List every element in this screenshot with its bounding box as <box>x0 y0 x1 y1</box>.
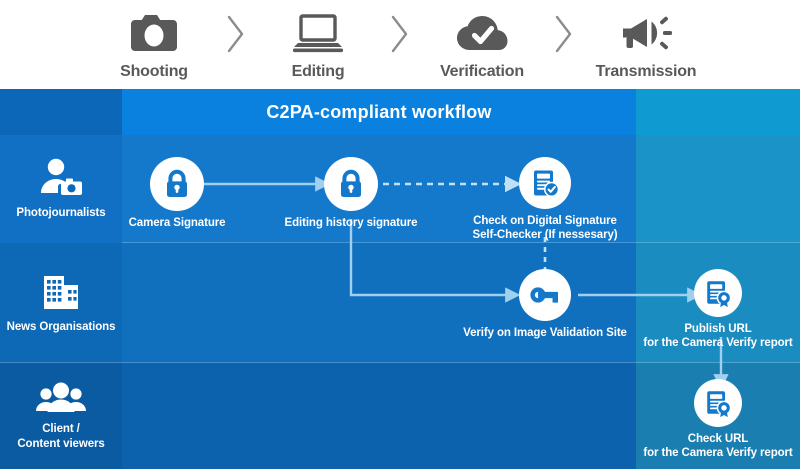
node-verify-image-validation-site[interactable]: Verify on Image Validation Site <box>455 269 635 340</box>
chevron-right-icon <box>541 14 587 54</box>
chevron-right-icon <box>213 14 259 54</box>
stage-label: Verification <box>440 63 524 81</box>
megaphone-icon <box>617 9 675 57</box>
node-editing-history-signature[interactable]: Editing history signature <box>260 157 442 230</box>
stage-label: Shooting <box>120 63 188 81</box>
document-check-icon <box>519 157 571 209</box>
stage-shooting: Shooting <box>95 9 213 81</box>
self-checker-line1: Check on Digital Signature <box>473 215 617 227</box>
node-camera-signature[interactable]: Camera Signature <box>136 157 218 230</box>
node-label: Publish URL for the Camera Verify report <box>643 322 792 350</box>
node-self-checker[interactable]: Check on Digital Signature Self-Checker … <box>455 157 635 242</box>
padlock-icon <box>150 157 204 211</box>
workflow-panel: C2PA-compliant workflow Photojournalists <box>0 89 800 469</box>
node-label: Editing history signature <box>285 216 418 230</box>
node-label: Check URL for the Camera Verify report <box>643 432 792 460</box>
publish-url-line2: for the Camera Verify report <box>643 337 792 349</box>
node-publish-url[interactable]: Publish URL for the Camera Verify report <box>638 269 798 350</box>
stage-editing: Editing <box>259 9 377 81</box>
chevron-right-icon <box>377 14 423 54</box>
node-label: Check on Digital Signature Self-Checker … <box>473 214 618 242</box>
stage-label: Editing <box>292 63 345 81</box>
stage-bar: Shooting Editing <box>0 0 800 89</box>
laptop-icon <box>290 9 346 57</box>
node-label: Camera Signature <box>129 216 226 230</box>
padlock-icon <box>324 157 378 211</box>
stage-verification: Verification <box>423 9 541 81</box>
infographic-root: Shooting Editing <box>0 0 800 469</box>
check-url-line2: for the Camera Verify report <box>643 447 792 459</box>
key-icon <box>519 269 571 321</box>
cloud-check-icon <box>453 9 511 57</box>
certificate-icon <box>694 379 742 427</box>
node-check-url[interactable]: Check URL for the Camera Verify report <box>638 379 798 460</box>
node-label: Verify on Image Validation Site <box>463 326 627 340</box>
certificate-icon <box>694 269 742 317</box>
self-checker-line2: Self-Checker (If nessesary) <box>473 229 618 241</box>
camera-icon <box>126 9 182 57</box>
stage-label: Transmission <box>596 63 697 81</box>
check-url-line1: Check URL <box>688 433 748 445</box>
stage-transmission: Transmission <box>587 9 705 81</box>
publish-url-line1: Publish URL <box>684 323 751 335</box>
